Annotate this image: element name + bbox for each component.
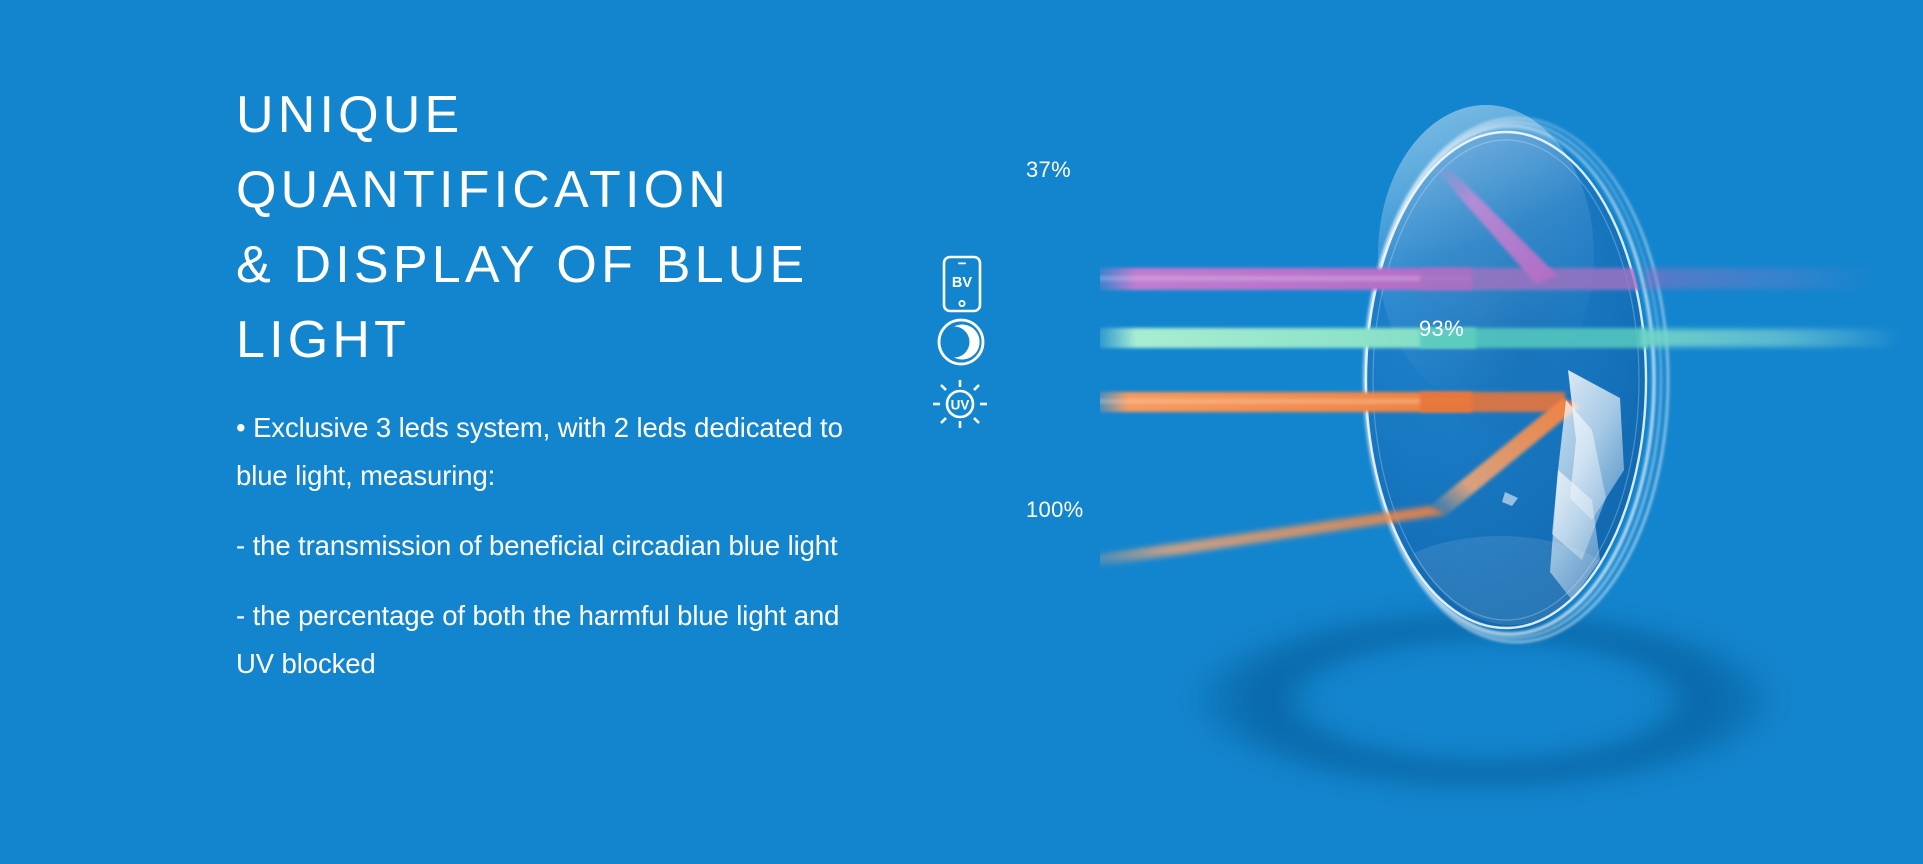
circadian-beam [1100, 328, 1900, 348]
sun-uv-icon: UV [932, 379, 988, 429]
lens-illustration [1100, 0, 1923, 864]
poster-canvas: UNIQUE QUANTIFICATION & DISPLAY OF BLUE … [0, 0, 1923, 864]
list-item: - the transmission of beneficial circadi… [236, 522, 1076, 570]
icon-label-bv: BV [952, 275, 972, 291]
icon-label-uv: UV [951, 398, 970, 413]
percent-label-blue-violet: 37% [1026, 157, 1071, 183]
moon-cb-icon: CB [936, 317, 986, 367]
list-item: - the percentage of both the harmful blu… [236, 592, 1076, 688]
bullet-list: • Exclusive 3 leds system, with 2 leds d… [236, 404, 1076, 688]
icon-label-cb: CB [948, 335, 967, 350]
percent-label-uv: 100% [1026, 497, 1083, 523]
percent-label-circadian: 93% [1419, 316, 1464, 342]
lens-diagram-svg [1100, 0, 1923, 864]
smartphone-bv-icon: BV [941, 255, 983, 313]
